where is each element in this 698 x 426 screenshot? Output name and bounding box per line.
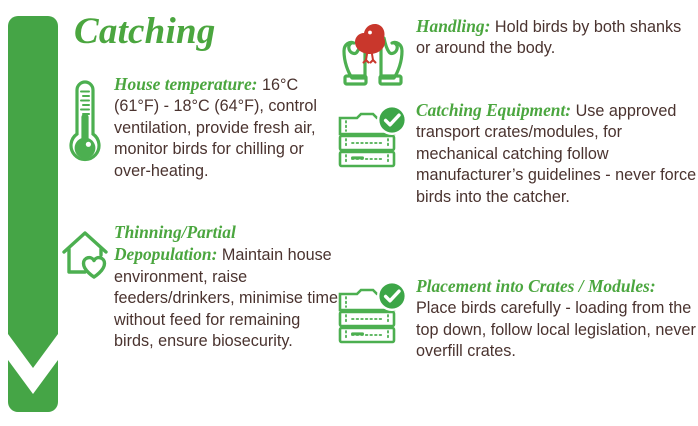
item-placement: Placement into Crates / Modules: Place b… (336, 276, 698, 363)
page-title: Catching (74, 12, 215, 52)
house-heart-icon (60, 228, 112, 280)
item-catching-equipment-text: Catching Equipment: Use approved transpo… (416, 100, 698, 208)
item-placement-text: Placement into Crates / Modules: Place b… (416, 276, 698, 363)
crates-check-icon (336, 106, 410, 172)
item-catching-equipment: Catching Equipment: Use approved transpo… (336, 100, 698, 208)
thermometer-icon (62, 78, 108, 170)
item-thinning-text: Thinning/Partial Depopulation: Maintain … (114, 222, 342, 352)
downward-process-arrow (8, 16, 58, 414)
catching-infographic: Catching (0, 0, 698, 426)
item-thinning: Thinning/Partial Depopulation: Maintain … (60, 222, 342, 352)
item-lead: Placement into Crates / Modules: (416, 276, 656, 296)
crates-check-icon (336, 282, 410, 348)
item-lead: House temperature: (114, 74, 257, 94)
item-house-temperature: House temperature: 16°C (61°F) - 18°C (6… (62, 74, 340, 182)
item-body: Place birds carefully - loading from the… (416, 299, 696, 360)
item-lead: Catching Equipment: (416, 100, 571, 120)
item-house-temperature-text: House temperature: 16°C (61°F) - 18°C (6… (114, 74, 340, 182)
item-lead: Handling: (416, 16, 490, 36)
item-handling: Handling: Hold birds by both shanks or a… (336, 16, 698, 88)
item-handling-text: Handling: Hold birds by both shanks or a… (416, 16, 698, 60)
hands-holding-bird-icon (336, 20, 410, 88)
